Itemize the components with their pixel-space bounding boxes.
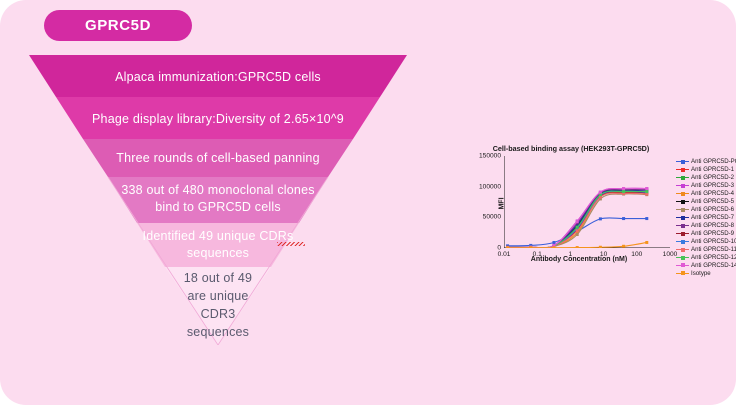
binding-assay-chart: Cell-based binding assay (HEK293T-GPRC5D… xyxy=(468,142,730,268)
legend-label: Anti GPRC5D-5 xyxy=(691,198,734,206)
spellcheck-underline-icon xyxy=(277,242,305,246)
title-badge: GPRC5D xyxy=(44,10,192,41)
chart-y-tick-3: 150000 xyxy=(479,153,501,160)
legend-label: Anti GPRC5D-9 xyxy=(691,230,734,238)
legend-label: Isotype xyxy=(691,270,711,278)
chart-x-axis-label: Antibody Concentration (nM) xyxy=(484,256,674,263)
chart-plot-area: MFI 050000100000150000 0.010.11101001000 xyxy=(504,156,670,248)
legend-item[interactable]: Anti GPRC5D-11 xyxy=(676,246,732,254)
funnel-shape xyxy=(29,55,407,345)
legend-swatch-icon xyxy=(676,166,689,173)
legend-item[interactable]: Isotype xyxy=(676,270,732,278)
legend-label: Anti GPRC5D-PC xyxy=(691,158,736,166)
legend-label: Anti GPRC5D-6 xyxy=(691,206,734,214)
legend-swatch-icon xyxy=(676,262,689,269)
legend-swatch-icon xyxy=(676,174,689,181)
legend-item[interactable]: Anti GPRC5D-1 xyxy=(676,166,732,174)
chart-y-tick-1: 50000 xyxy=(483,214,501,221)
funnel-band-5-shape xyxy=(137,223,299,267)
chart-canvas xyxy=(504,156,670,248)
slide-root: GPRC5D Alpaca immunization:GPRC5D cells … xyxy=(0,0,736,405)
legend-label: Anti GPRC5D-10 xyxy=(691,238,736,246)
chart-legend: Anti GPRC5D-PCAnti GPRC5D-1Anti GPRC5D-2… xyxy=(676,158,732,278)
legend-item[interactable]: Anti GPRC5D-6 xyxy=(676,206,732,214)
discovery-funnel: Alpaca immunization:GPRC5D cells Phage d… xyxy=(29,55,407,345)
funnel-band-1-shape xyxy=(29,55,407,97)
legend-label: Anti GPRC5D-3 xyxy=(691,182,734,190)
funnel-band-2-shape xyxy=(56,97,380,139)
legend-swatch-icon xyxy=(676,254,689,261)
legend-swatch-icon xyxy=(676,246,689,253)
legend-label: Anti GPRC5D-1 xyxy=(691,166,734,174)
legend-swatch-icon xyxy=(676,182,689,189)
chart-y-tick-2: 100000 xyxy=(479,183,501,190)
legend-label: Anti GPRC5D-7 xyxy=(691,214,734,222)
legend-item[interactable]: Anti GPRC5D-3 xyxy=(676,182,732,190)
legend-swatch-icon xyxy=(676,198,689,205)
legend-label: Anti GPRC5D-12 xyxy=(691,254,736,262)
legend-label: Anti GPRC5D-14 xyxy=(691,262,736,270)
legend-item[interactable]: Anti GPRC5D-4 xyxy=(676,190,732,198)
legend-item[interactable]: Anti GPRC5D-PC xyxy=(676,158,732,166)
title-badge-label: GPRC5D xyxy=(85,17,151,34)
legend-item[interactable]: Anti GPRC5D-10 xyxy=(676,238,732,246)
legend-item[interactable]: Anti GPRC5D-2 xyxy=(676,174,732,182)
legend-swatch-icon xyxy=(676,214,689,221)
legend-item[interactable]: Anti GPRC5D-12 xyxy=(676,254,732,262)
legend-label: Anti GPRC5D-8 xyxy=(691,222,734,230)
legend-item[interactable]: Anti GPRC5D-14 xyxy=(676,262,732,270)
legend-swatch-icon xyxy=(676,206,689,213)
legend-swatch-icon xyxy=(676,222,689,229)
legend-swatch-icon xyxy=(676,158,689,165)
legend-item[interactable]: Anti GPRC5D-9 xyxy=(676,230,732,238)
legend-label: Anti GPRC5D-11 xyxy=(691,246,736,254)
funnel-band-3-shape xyxy=(83,139,353,177)
legend-swatch-icon xyxy=(676,270,689,277)
legend-item[interactable]: Anti GPRC5D-5 xyxy=(676,198,732,206)
legend-swatch-icon xyxy=(676,238,689,245)
legend-label: Anti GPRC5D-2 xyxy=(691,174,734,182)
legend-label: Anti GPRC5D-4 xyxy=(691,190,734,198)
funnel-band-6-shape xyxy=(165,267,271,345)
legend-item[interactable]: Anti GPRC5D-7 xyxy=(676,214,732,222)
legend-swatch-icon xyxy=(676,190,689,197)
legend-item[interactable]: Anti GPRC5D-8 xyxy=(676,222,732,230)
legend-swatch-icon xyxy=(676,230,689,237)
funnel-band-4-shape xyxy=(108,177,328,223)
